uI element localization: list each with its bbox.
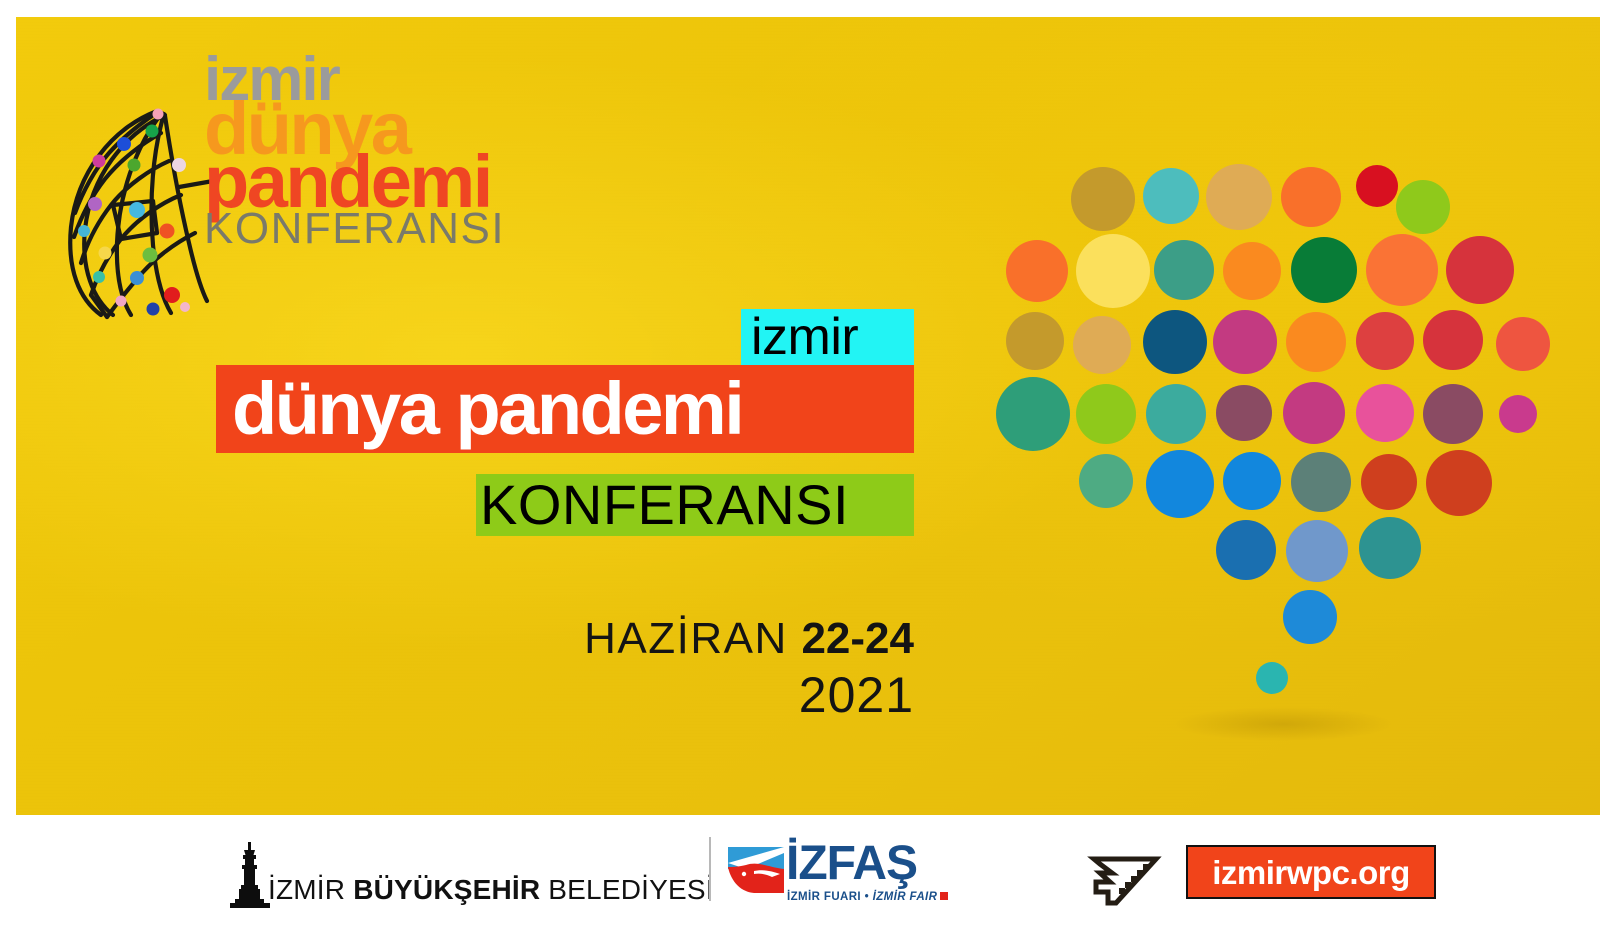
globe-grid-icon [61, 103, 221, 323]
poster-footer: İZMİR BÜYÜKŞEHİR BELEDİYESİ İZFAŞ İZMİR … [0, 815, 1600, 942]
heart-dot [1499, 395, 1537, 433]
headline-izmir-text: izmir [741, 311, 858, 363]
municipality-bold: BÜYÜKŞEHİR [353, 874, 540, 905]
heart-dot [1446, 236, 1514, 304]
footer-divider [709, 837, 711, 901]
heart-dot [1291, 237, 1357, 303]
heart-dot [1079, 454, 1133, 508]
dot-heart-shadow [1176, 707, 1391, 741]
heart-dot [1426, 450, 1492, 516]
event-date-month-days: HAZİRAN 22-24 [16, 617, 914, 661]
heart-dot [1076, 384, 1136, 444]
heart-dot [1359, 517, 1421, 579]
heart-dot [1143, 310, 1207, 374]
headline-main-chip: dünya pandemi [216, 365, 914, 453]
izfas-tagline-en: İZMİR FAIR [873, 891, 938, 903]
heart-dot [1216, 520, 1276, 580]
brandmark-line-pandemi: pandemi [204, 152, 564, 211]
heart-dot [1146, 450, 1214, 518]
headline-main-text: dünya pandemi [216, 372, 742, 446]
clock-tower-icon [228, 842, 272, 908]
headline-izmir-chip: izmir [741, 309, 914, 365]
heart-dot [1366, 234, 1438, 306]
heart-dot [1073, 316, 1131, 374]
heart-dot [1356, 165, 1398, 207]
event-date-days: 22-24 [801, 614, 914, 663]
heart-dot [1396, 180, 1450, 234]
heart-dot [1361, 454, 1417, 510]
heart-dot [1286, 312, 1346, 372]
heart-dot [1006, 312, 1064, 370]
dot-heart-graphic [991, 162, 1536, 687]
heart-dot [1283, 590, 1337, 644]
izfas-bird-icon [728, 847, 784, 893]
conference-brandmark: izmir dünya pandemi KONFERANSI [61, 55, 561, 330]
pixel-cursor-icon [1086, 846, 1162, 908]
heart-dot [1423, 384, 1483, 444]
heart-dot [1206, 164, 1272, 230]
heart-dot [1071, 167, 1135, 231]
heart-dot [1143, 168, 1199, 224]
headline-konferansi-chip: KONFERANSI [476, 474, 914, 536]
event-date-year: 2021 [16, 667, 914, 725]
izfas-name: İZFAŞ [786, 840, 917, 888]
heart-dot [1356, 384, 1414, 442]
poster-root: izmir dünya pandemi KONFERANSI izmir dün… [0, 0, 1600, 942]
heart-dot [1213, 310, 1277, 374]
municipality-label: İZMİR BÜYÜKŞEHİR BELEDİYESİ [268, 874, 714, 908]
event-date-month: HAZİRAN [584, 614, 788, 663]
event-date-block: HAZİRAN 22-24 2021 [16, 617, 914, 725]
heart-dot [1076, 234, 1150, 308]
heart-dot [1286, 520, 1348, 582]
izfas-tagline-tr: İZMİR FUARI [787, 891, 861, 903]
izfas-tagline-separator: • [861, 891, 873, 903]
heart-dot [1283, 382, 1345, 444]
izfas-red-square-icon [940, 892, 948, 900]
izfas-tagline: İZMİR FUARI • İZMİR FAIR [787, 891, 948, 903]
heart-dot [1291, 452, 1351, 512]
brandmark-line-konferansi: KONFERANSI [204, 211, 564, 246]
heart-dot [1356, 312, 1414, 370]
heart-dot [1281, 167, 1341, 227]
heart-dot [1423, 310, 1483, 370]
headline-konferansi-text: KONFERANSI [476, 477, 849, 533]
heart-dot [1223, 242, 1281, 300]
heart-dot [1496, 317, 1550, 371]
heart-dot [1216, 385, 1272, 441]
poster-background-panel: izmir dünya pandemi KONFERANSI izmir dün… [16, 17, 1600, 815]
heart-dot [1256, 662, 1288, 694]
izmir-municipality-logo: İZMİR BÜYÜKŞEHİR BELEDİYESİ [228, 840, 714, 908]
website-url-label: izmirwpc.org [1212, 856, 1410, 889]
heart-dot [1223, 452, 1281, 510]
izfas-logo: İZFAŞ İZMİR FUARI • İZMİR FAIR [728, 843, 908, 913]
brandmark-wordmark: izmir dünya pandemi KONFERANSI [204, 55, 564, 246]
heart-dot [996, 377, 1070, 451]
municipality-suffix: BELEDİYESİ [540, 874, 713, 905]
heart-dot [1006, 240, 1068, 302]
municipality-prefix: İZMİR [268, 874, 353, 905]
heart-dot [1146, 384, 1206, 444]
website-url-badge[interactable]: izmirwpc.org [1186, 845, 1436, 899]
heart-dot [1154, 240, 1214, 300]
